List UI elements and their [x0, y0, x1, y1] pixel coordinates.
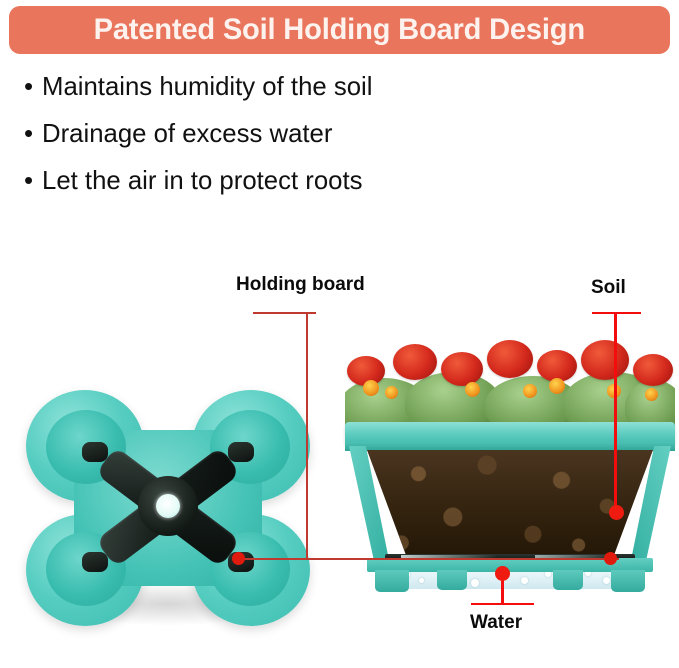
flower-bloom: [633, 354, 673, 386]
soil-fill: [367, 450, 653, 558]
accent-flower: [549, 378, 565, 394]
leader-line-holding-board-base: [238, 558, 619, 560]
bullet-marker-icon: •: [20, 113, 42, 153]
list-item-label: Let the air in to protect roots: [42, 160, 362, 200]
leader-line-water-base: [471, 603, 534, 605]
flower-cluster: [345, 334, 675, 430]
list-item-label: Maintains humidity of the soil: [42, 66, 372, 106]
water-bubble: [521, 577, 528, 584]
cross-section-planter-image: [345, 334, 675, 596]
leader-line-holding-board-vertical: [306, 312, 308, 559]
header-banner: Patented Soil Holding Board Design: [9, 6, 670, 54]
accent-flower: [363, 380, 379, 396]
holding-board-tab: [82, 442, 108, 462]
planter-foot: [553, 570, 583, 590]
leader-line-soil-vertical: [614, 312, 617, 512]
accent-flower: [465, 382, 480, 397]
water-bubble: [419, 578, 424, 583]
flower-bloom: [487, 340, 533, 378]
list-item: • Maintains humidity of the soil: [20, 66, 660, 113]
flower-bloom: [441, 352, 483, 386]
annotation-label-holding-board: Holding board: [236, 274, 365, 296]
feature-bullet-list: • Maintains humidity of the soil • Drain…: [20, 66, 660, 207]
holding-board-tab: [228, 442, 254, 462]
planter-rim-lip: [345, 442, 675, 451]
planter-foot: [437, 570, 467, 590]
bullet-marker-icon: •: [20, 160, 42, 200]
accent-flower: [523, 384, 537, 398]
top-view-planter-image: [22, 386, 314, 629]
planter-foot: [375, 570, 409, 592]
bullet-marker-icon: •: [20, 66, 42, 106]
annotation-label-soil: Soil: [591, 277, 626, 299]
water-bubble: [471, 579, 479, 587]
flower-bloom: [393, 344, 437, 380]
drainage-hole-icon: [156, 494, 180, 518]
accent-flower: [385, 386, 398, 399]
accent-flower: [645, 388, 658, 401]
water-bubble: [603, 577, 610, 584]
holding-board-insert: [80, 416, 256, 596]
leader-dot-soil: [609, 505, 624, 520]
list-item: • Let the air in to protect roots: [20, 160, 660, 207]
leader-dot-water: [495, 566, 510, 581]
list-item: • Drainage of excess water: [20, 113, 660, 160]
leader-dot-holding-board-left: [232, 552, 245, 565]
page-title: Patented Soil Holding Board Design: [94, 15, 585, 45]
leader-dot-holding-board-right: [604, 552, 617, 565]
planter-foot: [611, 570, 645, 592]
holding-board-tab: [82, 552, 108, 572]
annotation-label-water: Water: [470, 612, 522, 634]
list-item-label: Drainage of excess water: [42, 113, 332, 153]
flower-bloom: [581, 340, 629, 380]
